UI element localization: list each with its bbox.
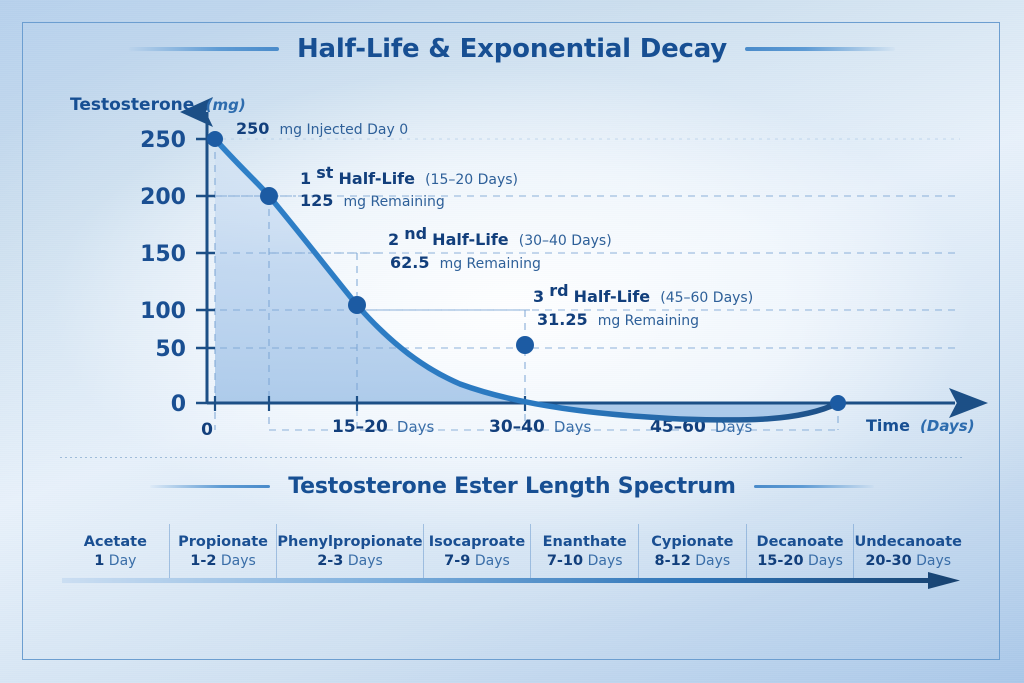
- ester-duration: 7-10 Days: [547, 553, 623, 569]
- ester-duration: 7-9 Days: [444, 553, 510, 569]
- data-point-zero: [830, 395, 846, 411]
- annotation-half-life-1-value: 125 mg Remaining: [300, 191, 445, 210]
- x-tick-label-0: 0: [201, 420, 213, 440]
- section-title-ester-spectrum: Testosterone Ester Length Spectrum: [288, 474, 735, 499]
- annotation-hl1-label: Half-Life: [339, 169, 416, 188]
- annotation-hl2-remaining-value: 62.5: [390, 253, 429, 272]
- y-tick-label-200: 200: [140, 185, 186, 210]
- ester-duration-value: 7-9: [444, 553, 470, 569]
- y-tick-label-150: 150: [140, 242, 186, 267]
- annotation-injection-text: mg Injected Day 0: [280, 122, 409, 138]
- x-axis-title-unit: (Days): [920, 417, 975, 435]
- annotation-hl3-label: Half-Life: [574, 287, 651, 306]
- ester-duration-value: 1-2: [190, 553, 216, 569]
- ester-duration: 2-3 Days: [317, 553, 383, 569]
- x-tick-label-2: 30–40 Days: [489, 417, 592, 437]
- ester-duration-unit: Day: [109, 553, 137, 569]
- annotation-hl3-range: (45–60 Days): [660, 290, 753, 306]
- x-tick-label-2-num: 30–40: [489, 417, 545, 437]
- x-tick-label-1-unit: Days: [397, 418, 435, 436]
- annotation-hl3-remaining-text: mg Remaining: [598, 313, 699, 329]
- x-tick-label-2-unit: Days: [554, 418, 592, 436]
- data-point-31-25mg: [516, 336, 534, 354]
- annotation-hl1-range: (15–20 Days): [425, 172, 518, 188]
- x-tick-label-1-num: 15–20: [332, 417, 388, 437]
- ester-duration-unit: Days: [475, 553, 510, 569]
- data-point-62-5mg: [348, 296, 366, 314]
- ester-duration-unit: Days: [695, 553, 730, 569]
- ester-duration: 15-20 Days: [757, 553, 843, 569]
- ester-name: Phenylpropionate: [277, 534, 422, 550]
- y-axis-title: Testosterone (mg): [70, 95, 246, 115]
- y-axis-title-unit: (mg): [206, 96, 246, 114]
- section-divider: [60, 457, 964, 458]
- data-point-250mg: [207, 131, 223, 147]
- annotation-hl3-ordinal: 3: [533, 287, 544, 306]
- ester-name: Enanthate: [543, 534, 627, 550]
- half-life-decay-chart: 250 200 150 100 50 0 Testosterone (mg) T…: [0, 0, 1024, 460]
- annotation-half-life-1-title: 1 st Half-Life (15–20 Days): [300, 163, 518, 188]
- annotation-hl2-ordinal-suffix: nd: [404, 224, 427, 243]
- ester-duration-unit: Days: [916, 553, 951, 569]
- ester-duration-value: 1: [94, 553, 104, 569]
- ester-duration: 20-30 Days: [865, 553, 951, 569]
- ester-duration-value: 15-20: [757, 553, 803, 569]
- annotation-injection: 250 mg Injected Day 0: [236, 119, 408, 138]
- annotation-hl2-ordinal: 2: [388, 230, 399, 249]
- annotation-injection-value: 250: [236, 119, 269, 138]
- annotation-hl3-ordinal-suffix: rd: [549, 281, 568, 300]
- annotation-hl3-remaining-value: 31.25: [537, 310, 588, 329]
- ester-duration-value: 20-30: [865, 553, 911, 569]
- ester-duration: 1-2 Days: [190, 553, 256, 569]
- ester-name: Undecanoate: [854, 534, 962, 550]
- y-tick-label-250: 250: [140, 128, 186, 153]
- ester-duration-unit: Days: [221, 553, 256, 569]
- infographic-poster: Half-Life & Exponential Decay: [0, 0, 1024, 683]
- annotation-half-life-2-title: 2 nd Half-Life (30–40 Days): [388, 224, 612, 249]
- subtitle-rule-left: [150, 485, 270, 488]
- ester-duration: 1 Day: [94, 553, 136, 569]
- ester-spectrum-arrow: [62, 570, 962, 592]
- ester-name: Acetate: [84, 534, 147, 550]
- ester-duration-unit: Days: [808, 553, 843, 569]
- x-axis-title: Time (Days): [866, 416, 975, 435]
- data-point-125mg: [260, 187, 278, 205]
- x-axis-title-main: Time: [866, 416, 910, 435]
- annotation-hl1-ordinal-suffix: st: [316, 163, 334, 182]
- y-axis-title-main: Testosterone: [70, 95, 194, 115]
- subtitle-rule-right: [754, 485, 874, 488]
- annotation-hl2-label: Half-Life: [432, 230, 509, 249]
- y-tick-label-100: 100: [140, 299, 186, 324]
- annotation-hl1-remaining-text: mg Remaining: [344, 194, 445, 210]
- annotation-hl2-remaining-text: mg Remaining: [440, 256, 541, 272]
- ester-name: Propionate: [178, 534, 268, 550]
- annotation-hl1-remaining-value: 125: [300, 191, 333, 210]
- annotation-hl2-range: (30–40 Days): [519, 233, 612, 249]
- sub-title-block: Testosterone Ester Length Spectrum: [0, 474, 1024, 499]
- y-tick-label-50: 50: [155, 337, 186, 362]
- ester-duration-value: 7-10: [547, 553, 583, 569]
- ester-duration-unit: Days: [588, 553, 623, 569]
- annotation-half-life-3-value: 31.25 mg Remaining: [537, 310, 699, 329]
- ester-duration: 8-12 Days: [655, 553, 731, 569]
- ester-duration-unit: Days: [348, 553, 383, 569]
- annotation-half-life-3-title: 3 rd Half-Life (45–60 Days): [533, 281, 753, 306]
- y-tick-label-0: 0: [171, 392, 186, 417]
- annotation-hl1-ordinal: 1: [300, 169, 311, 188]
- ester-name: Decanoate: [757, 534, 844, 550]
- ester-name: Isocaproate: [429, 534, 525, 550]
- ester-duration-value: 2-3: [317, 553, 343, 569]
- ester-name: Cypionate: [651, 534, 733, 550]
- x-tick-label-1: 15–20 Days: [332, 417, 435, 437]
- annotation-half-life-2-value: 62.5 mg Remaining: [390, 253, 541, 272]
- ester-duration-value: 8-12: [655, 553, 691, 569]
